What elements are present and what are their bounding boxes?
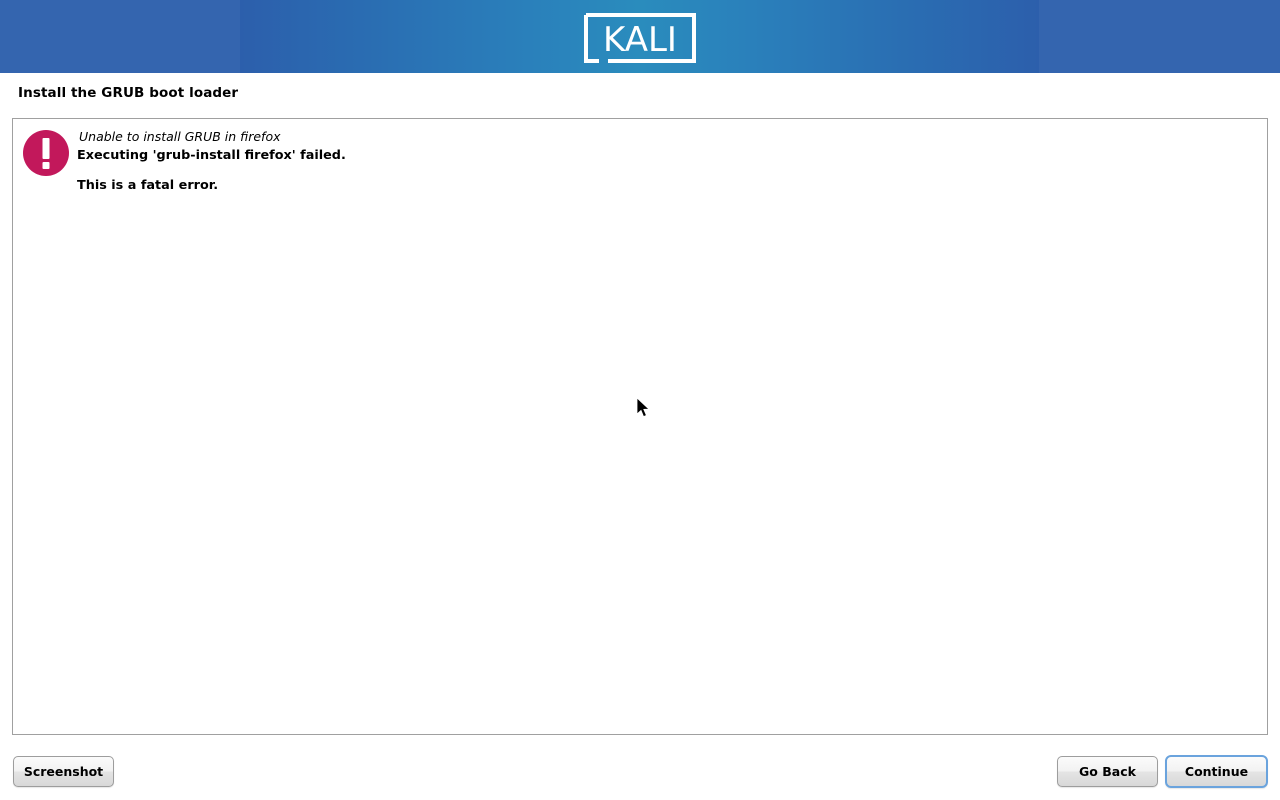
- kali-header-banner: KALI: [0, 0, 1280, 73]
- error-text-group: Unable to install GRUB in firefox Execut…: [77, 127, 1177, 196]
- error-heading: Unable to install GRUB in firefox: [77, 127, 1177, 146]
- kali-logo: KALI: [583, 12, 697, 64]
- error-spacer: [77, 166, 1177, 176]
- error-detail: This is a fatal error.: [77, 176, 1177, 196]
- continue-button[interactable]: Continue: [1165, 755, 1268, 788]
- page-title: Install the GRUB boot loader: [18, 85, 238, 101]
- screenshot-button[interactable]: Screenshot: [13, 756, 114, 787]
- content-panel: Unable to install GRUB in firefox Execut…: [12, 118, 1268, 735]
- go-back-button[interactable]: Go Back: [1057, 756, 1158, 787]
- error-exclamation-icon: [22, 129, 70, 177]
- kali-logo-text: KALI: [603, 20, 677, 60]
- error-message: Executing 'grub-install firefox' failed.: [77, 146, 1177, 166]
